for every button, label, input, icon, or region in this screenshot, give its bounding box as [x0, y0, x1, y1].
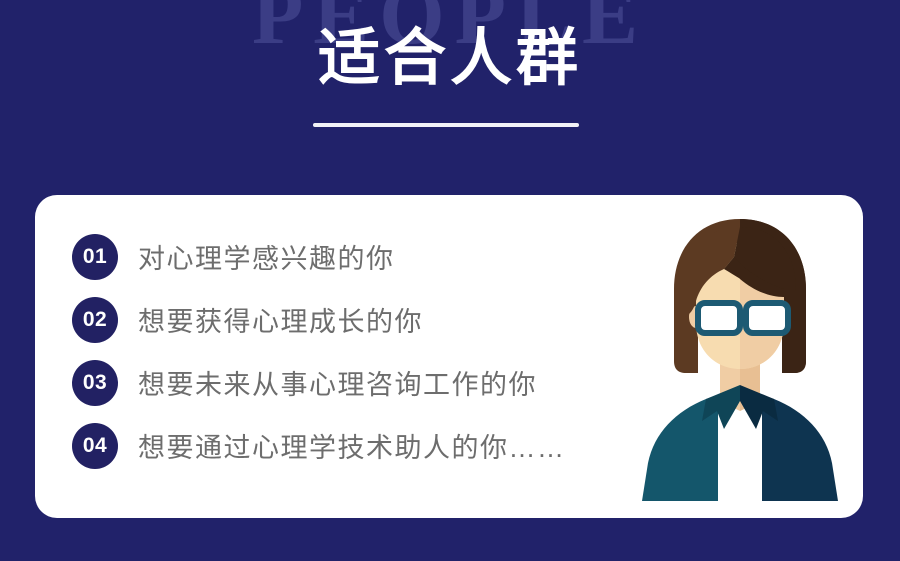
- glasses-lens-right: [746, 303, 788, 333]
- page-title: 适合人群: [0, 22, 900, 96]
- item-number-badge: 03: [72, 360, 118, 406]
- item-label: 想要获得心理成长的你: [138, 300, 423, 339]
- content-card: 01 对心理学感兴趣的你 02 想要获得心理成长的你 03 想要未来从事心理咨询…: [35, 195, 863, 518]
- list-item[interactable]: 01 对心理学感兴趣的你: [72, 225, 632, 288]
- item-label: 想要未来从事心理咨询工作的你: [138, 363, 537, 402]
- title-divider: [313, 123, 579, 127]
- audience-list: 01 对心理学感兴趣的你 02 想要获得心理成长的你 03 想要未来从事心理咨询…: [72, 225, 632, 477]
- glasses-lens-left: [698, 303, 740, 333]
- list-item[interactable]: 03 想要未来从事心理咨询工作的你: [72, 351, 632, 414]
- slide-root: PEOPLE 适合人群 01 对心理学感兴趣的你 02 想要获得心理成长的你 0…: [0, 0, 900, 561]
- glasses-bridge: [738, 311, 748, 317]
- item-number-badge: 01: [72, 234, 118, 280]
- item-number-badge: 04: [72, 423, 118, 469]
- list-item[interactable]: 04 想要通过心理学技术助人的你……: [72, 414, 632, 477]
- item-number-badge: 02: [72, 297, 118, 343]
- woman-with-glasses-avatar-icon: [620, 205, 860, 505]
- item-label: 对心理学感兴趣的你: [138, 237, 395, 276]
- header: PEOPLE 适合人群: [0, 0, 900, 175]
- item-label: 想要通过心理学技术助人的你……: [138, 426, 566, 465]
- list-item[interactable]: 02 想要获得心理成长的你: [72, 288, 632, 351]
